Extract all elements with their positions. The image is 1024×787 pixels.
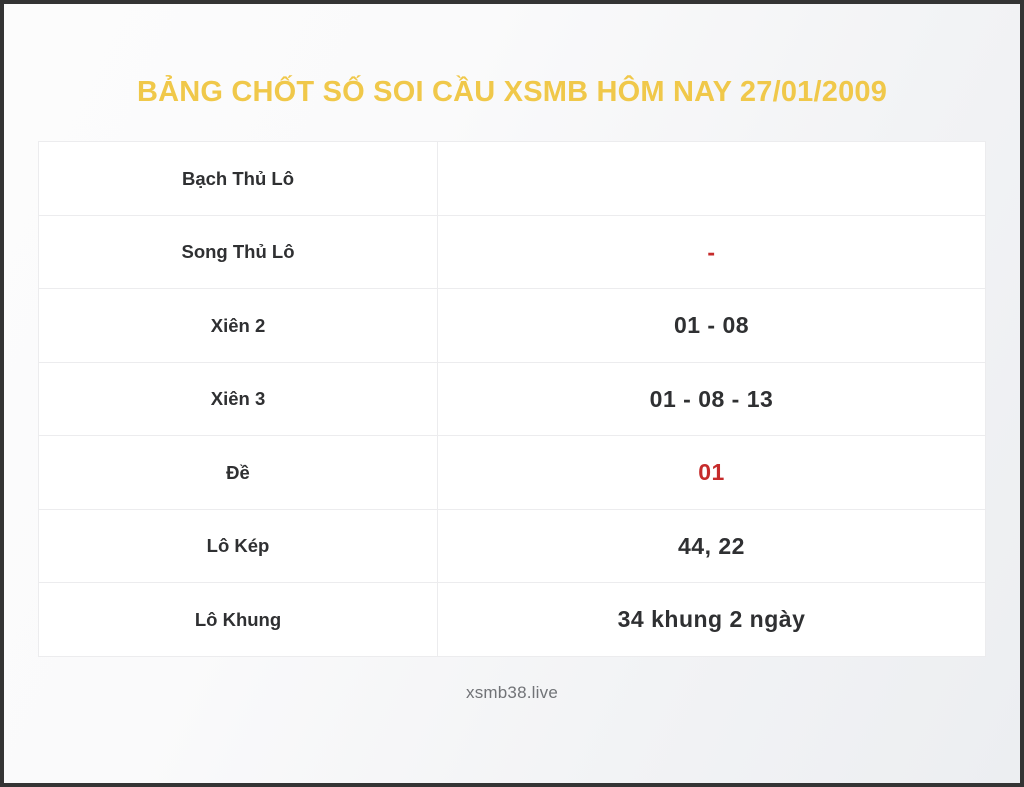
table-body: Bạch Thủ Lô Song Thủ Lô - Xiên 2 01 - 08… [39, 142, 986, 657]
row-label-lo-khung: Lô Khung [39, 583, 438, 657]
table-row: Đề 01 [39, 436, 986, 510]
table-row: Bạch Thủ Lô [39, 142, 986, 216]
table-row: Xiên 3 01 - 08 - 13 [39, 362, 986, 436]
row-value-xien-3: 01 - 08 - 13 [438, 362, 986, 436]
site-watermark: xsmb38.live [466, 683, 558, 703]
lottery-prediction-table: Bạch Thủ Lô Song Thủ Lô - Xiên 2 01 - 08… [38, 141, 986, 657]
table-row: Lô Kép 44, 22 [39, 509, 986, 583]
row-label-song-thu-lo: Song Thủ Lô [39, 215, 438, 289]
page-frame: BẢNG CHỐT SỐ SOI CẦU XSMB HÔM NAY 27/01/… [0, 0, 1024, 787]
row-label-xien-2: Xiên 2 [39, 289, 438, 363]
row-label-bach-thu-lo: Bạch Thủ Lô [39, 142, 438, 216]
row-label-de: Đề [39, 436, 438, 510]
page-title: BẢNG CHỐT SỐ SOI CẦU XSMB HÔM NAY 27/01/… [137, 76, 887, 109]
table-row: Song Thủ Lô - [39, 215, 986, 289]
row-value-bach-thu-lo [438, 142, 986, 216]
row-value-lo-khung: 34 khung 2 ngày [438, 583, 986, 657]
row-label-lo-kep: Lô Kép [39, 509, 438, 583]
table-row: Lô Khung 34 khung 2 ngày [39, 583, 986, 657]
row-label-xien-3: Xiên 3 [39, 362, 438, 436]
row-value-song-thu-lo: - [438, 215, 986, 289]
row-value-lo-kep: 44, 22 [438, 509, 986, 583]
row-value-de: 01 [438, 436, 986, 510]
row-value-xien-2: 01 - 08 [438, 289, 986, 363]
table-row: Xiên 2 01 - 08 [39, 289, 986, 363]
